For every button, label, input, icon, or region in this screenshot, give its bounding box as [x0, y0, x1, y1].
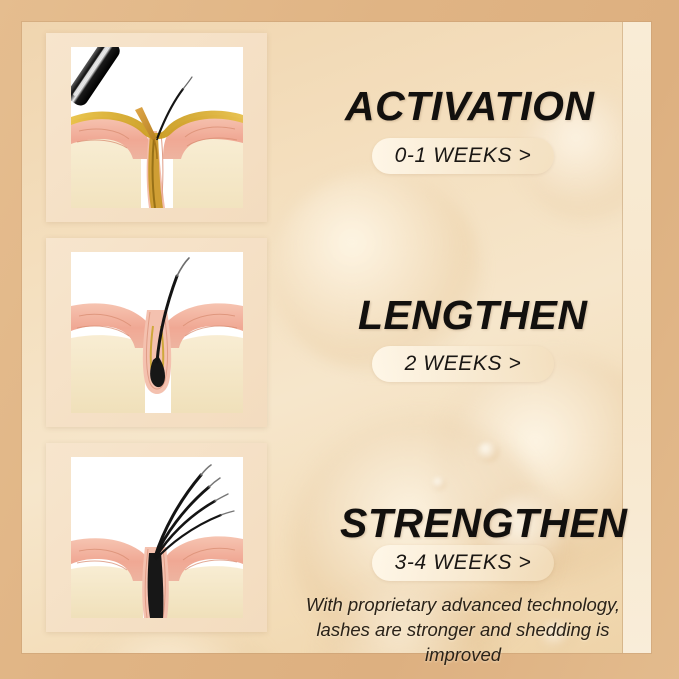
- illustration-lengthen: [71, 252, 243, 413]
- footer-caption: With proprietary advanced technology, la…: [283, 592, 643, 667]
- stage-title-activation: ACTIVATION: [345, 83, 594, 130]
- stage-duration-badge-strengthen[interactable]: 3-4 WEEKS >: [372, 545, 554, 581]
- card-right-strip: [623, 22, 651, 653]
- stage-illustration-frame-activation: [46, 33, 267, 222]
- serum-applicator-diagram: [71, 47, 243, 208]
- illustration-strengthen: [71, 457, 243, 618]
- footer-caption-line-2: lashes are stronger and shedding is impr…: [283, 617, 643, 667]
- stage-illustration-frame-strengthen: [46, 443, 267, 632]
- bokeh-bubble-icon: [272, 172, 482, 372]
- droplet-icon: [477, 442, 499, 462]
- stage-title-lengthen: LENGTHEN: [358, 292, 588, 339]
- stage-duration-badge-lengthen[interactable]: 2 WEEKS >: [372, 346, 554, 382]
- single-lash-diagram: [71, 252, 243, 413]
- infographic-root: ACTIVATION 0-1 WEEKS > LENGTHEN 2 WEEKS …: [0, 0, 679, 679]
- stage-title-strengthen: STRENGTHEN: [340, 500, 627, 547]
- multiple-lashes-diagram: [71, 457, 243, 618]
- droplet-icon: [432, 477, 446, 490]
- illustration-activation: [71, 47, 243, 208]
- footer-caption-line-1: With proprietary advanced technology,: [283, 592, 643, 617]
- stage-illustration-frame-lengthen: [46, 238, 267, 427]
- stage-duration-badge-activation[interactable]: 0-1 WEEKS >: [372, 138, 554, 174]
